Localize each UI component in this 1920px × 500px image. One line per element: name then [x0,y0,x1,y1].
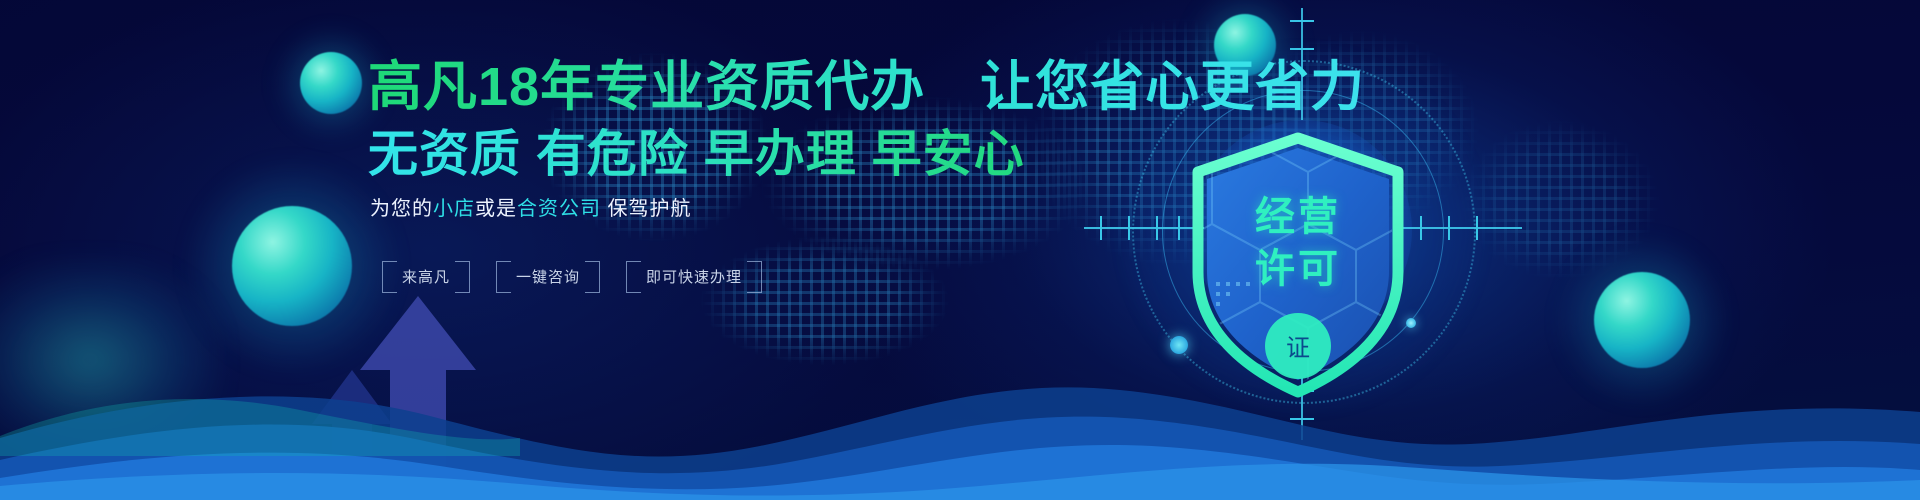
crosshair-tick-l1 [1100,216,1102,240]
crosshair-tick-r2 [1448,216,1450,240]
license-shield-emblem: 经营 许可 证 [1182,132,1414,400]
crosshair-tick-l2 [1128,216,1130,240]
feature-tag-2[interactable]: 一键咨询 [496,261,600,291]
subtitle-highlight-1: 小店 [433,198,475,220]
emblem-text-line1: 经营 [1182,184,1414,242]
headline-line-1: 高凡18年专业资质代办 让您省心更省力 [368,56,1365,118]
subtitle-part-2: 或是 [475,198,517,220]
subtitle-highlight-2: 合资公司 [517,198,601,220]
headline-line-2: 无资质 有危险 早办理 早安心 [368,125,1025,183]
subtitle: 为您的小店或是合资公司 保驾护航 [370,192,692,221]
emblem-text-line2: 许可 [1182,236,1414,294]
subtitle-part-3: 保驾护航 [601,198,692,220]
emblem-seal-text: 证 [1182,328,1414,363]
crosshair-tick-r3 [1476,216,1478,240]
crosshair-tick-l4 [1178,216,1180,240]
feature-tag-1[interactable]: 来高凡 [382,261,470,291]
feature-tag-list: 来高凡 一键咨询 即可快速办理 [382,261,762,291]
crosshair-tick-l3 [1156,216,1158,240]
subtitle-part-1: 为您的 [370,198,433,220]
left-wave-accent [0,366,520,456]
orb-top-left [300,52,362,114]
crosshair-tick-r1 [1420,216,1422,240]
banner-root: 经营 许可 证 高凡18年专业资质代办 让您省心更省力 无资质 有危险 早办理 … [0,0,1920,500]
feature-tag-3[interactable]: 即可快速办理 [626,261,762,291]
